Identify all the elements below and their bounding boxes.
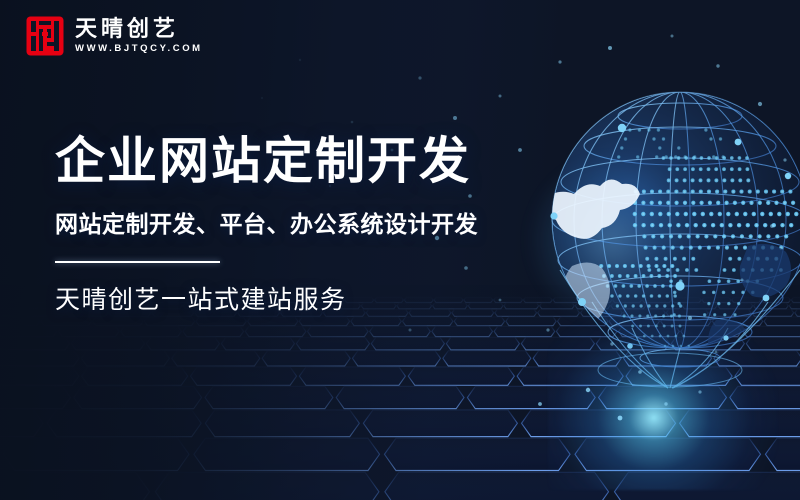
logo-website-url: WWW.BJTQCY.COM: [75, 44, 203, 54]
hero-headline: 企业网站定制开发: [55, 134, 575, 187]
hero-banner: 天晴创艺 WWW.BJTQCY.COM 企业网站定制开发 网站定制开发、平台、办…: [0, 0, 800, 500]
logo-company-name: 天晴创艺: [75, 19, 203, 41]
brand-logo[interactable]: 天晴创艺 WWW.BJTQCY.COM: [26, 16, 203, 56]
hero-divider: [55, 261, 220, 263]
hero-tagline: 天晴创艺一站式建站服务: [55, 286, 575, 314]
hero-copy-block: 企业网站定制开发 网站定制开发、平台、办公系统设计开发 天晴创艺一站式建站服务: [55, 134, 575, 314]
hero-subline: 网站定制开发、平台、办公系统设计开发: [55, 213, 575, 238]
tqcy-logo-icon: [26, 16, 64, 56]
